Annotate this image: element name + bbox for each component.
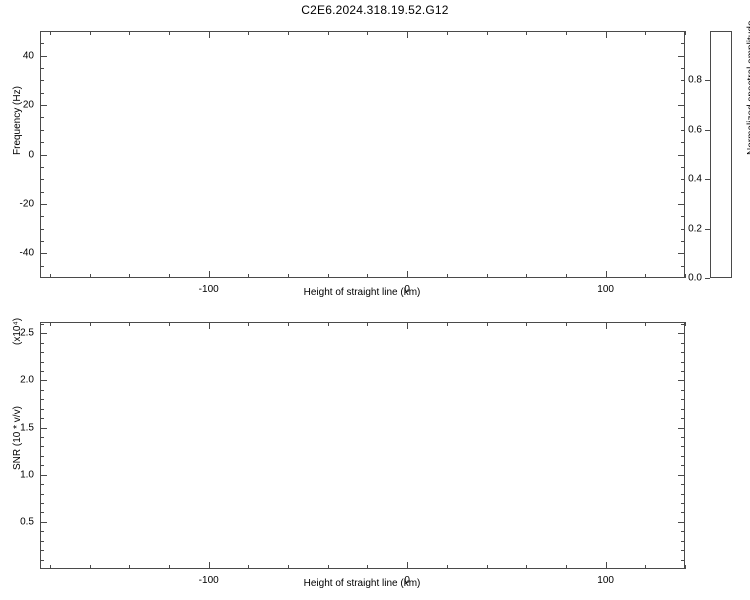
axis-tick bbox=[40, 550, 44, 551]
axis-tick bbox=[40, 465, 44, 466]
x-tick-label: 100 bbox=[597, 284, 614, 295]
axis-tick bbox=[40, 503, 44, 504]
axis-tick bbox=[129, 274, 130, 278]
axis-tick bbox=[169, 565, 170, 569]
axis-tick bbox=[40, 446, 44, 447]
axis-tick bbox=[40, 541, 44, 542]
axis-tick bbox=[40, 343, 44, 344]
colorbar-tick-label: 0.6 bbox=[672, 124, 702, 135]
axis-tick bbox=[40, 475, 47, 476]
axis-tick bbox=[681, 531, 685, 532]
colorbar-frame bbox=[710, 31, 732, 278]
axis-tick bbox=[681, 390, 685, 391]
axis-tick bbox=[678, 333, 685, 334]
axis-tick bbox=[645, 565, 646, 569]
colorbar-tick-label: 0.2 bbox=[672, 223, 702, 234]
axis-tick bbox=[681, 216, 685, 217]
axis-tick bbox=[526, 274, 527, 278]
axis-tick bbox=[606, 271, 607, 278]
y-tick-label: -40 bbox=[4, 248, 34, 259]
axis-tick bbox=[681, 371, 685, 372]
axis-tick bbox=[678, 105, 685, 106]
axis-tick bbox=[681, 446, 685, 447]
axis-tick bbox=[40, 80, 44, 81]
axis-tick bbox=[248, 565, 249, 569]
axis-tick bbox=[40, 409, 44, 410]
colorbar-tick-label: 0.4 bbox=[672, 174, 702, 185]
axis-tick bbox=[645, 31, 646, 35]
axis-tick bbox=[40, 266, 44, 267]
axis-tick bbox=[447, 31, 448, 35]
axis-tick bbox=[681, 541, 685, 542]
y-tick-label: 1.0 bbox=[4, 469, 34, 480]
axis-tick bbox=[40, 324, 44, 325]
axis-tick bbox=[40, 390, 44, 391]
axis-tick bbox=[40, 93, 44, 94]
axis-tick bbox=[407, 322, 408, 329]
axis-tick bbox=[678, 428, 685, 429]
axis-tick bbox=[678, 253, 685, 254]
axis-tick bbox=[681, 352, 685, 353]
axis-tick bbox=[681, 494, 685, 495]
axis-tick bbox=[681, 503, 685, 504]
axis-tick bbox=[248, 274, 249, 278]
axis-tick bbox=[90, 565, 91, 569]
axis-tick bbox=[328, 274, 329, 278]
axis-tick bbox=[129, 322, 130, 326]
x-tick-label: 100 bbox=[597, 575, 614, 586]
axis-tick bbox=[40, 241, 44, 242]
axis-tick bbox=[40, 522, 47, 523]
axis-tick bbox=[678, 522, 685, 523]
axis-tick bbox=[288, 322, 289, 326]
axis-tick bbox=[40, 380, 47, 381]
axis-tick bbox=[90, 274, 91, 278]
axis-tick bbox=[526, 565, 527, 569]
axis-tick bbox=[681, 484, 685, 485]
x-tick-label: -100 bbox=[199, 575, 219, 586]
axis-tick bbox=[606, 31, 607, 38]
y-tick-label: -20 bbox=[4, 198, 34, 209]
axis-tick bbox=[678, 155, 685, 156]
axis-tick bbox=[678, 204, 685, 205]
axis-tick bbox=[526, 31, 527, 35]
axis-tick bbox=[367, 565, 368, 569]
axis-tick bbox=[487, 565, 488, 569]
axis-tick bbox=[681, 362, 685, 363]
snr-y-multiplier-label: (x10⁴) bbox=[12, 318, 23, 345]
axis-tick bbox=[407, 31, 408, 38]
axis-tick bbox=[40, 179, 44, 180]
axis-tick bbox=[40, 437, 44, 438]
axis-tick bbox=[678, 380, 685, 381]
page-title: C2E6.2024.318.19.52.G12 bbox=[0, 3, 750, 17]
axis-tick bbox=[447, 274, 448, 278]
axis-tick bbox=[169, 31, 170, 35]
spectrogram-y-axis-title: Frequency (Hz) bbox=[12, 86, 23, 155]
axis-tick bbox=[328, 565, 329, 569]
axis-tick bbox=[681, 456, 685, 457]
axis-tick bbox=[40, 352, 44, 353]
axis-tick bbox=[40, 418, 44, 419]
spectrogram-x-axis-title: Height of straight line (km) bbox=[304, 287, 421, 298]
axis-tick bbox=[526, 322, 527, 326]
axis-tick bbox=[681, 560, 685, 561]
axis-tick bbox=[645, 322, 646, 326]
axis-tick bbox=[681, 241, 685, 242]
axis-tick bbox=[209, 562, 210, 569]
axis-tick bbox=[40, 484, 44, 485]
colorbar-label: Normalized spectral amplitude bbox=[746, 20, 750, 155]
colorbar-tick-label: 0.8 bbox=[672, 75, 702, 86]
axis-tick bbox=[367, 322, 368, 326]
axis-tick bbox=[40, 130, 44, 131]
axis-tick bbox=[681, 68, 685, 69]
axis-tick bbox=[248, 322, 249, 326]
axis-tick bbox=[681, 399, 685, 400]
axis-tick bbox=[40, 155, 47, 156]
axis-tick bbox=[90, 31, 91, 35]
axis-tick bbox=[681, 93, 685, 94]
axis-tick bbox=[447, 565, 448, 569]
axis-tick bbox=[40, 204, 47, 205]
axis-tick bbox=[209, 271, 210, 278]
axis-tick bbox=[288, 31, 289, 35]
axis-tick bbox=[487, 274, 488, 278]
axis-tick bbox=[40, 105, 47, 106]
axis-tick bbox=[685, 31, 686, 35]
axis-tick bbox=[606, 322, 607, 329]
axis-tick bbox=[40, 531, 44, 532]
axis-tick bbox=[40, 371, 44, 372]
axis-tick bbox=[40, 399, 44, 400]
axis-tick bbox=[328, 31, 329, 35]
colorbar-tick bbox=[705, 278, 710, 279]
axis-tick bbox=[288, 274, 289, 278]
axis-tick bbox=[328, 322, 329, 326]
axis-tick bbox=[367, 31, 368, 35]
axis-tick bbox=[685, 565, 686, 569]
axis-tick bbox=[681, 266, 685, 267]
axis-tick bbox=[685, 322, 686, 326]
colorbar-tick-label: 0.0 bbox=[672, 273, 702, 284]
axis-tick bbox=[681, 324, 685, 325]
y-tick-label: 2.0 bbox=[4, 375, 34, 386]
axis-tick bbox=[169, 322, 170, 326]
axis-tick bbox=[248, 31, 249, 35]
axis-tick bbox=[566, 274, 567, 278]
axis-tick bbox=[40, 512, 44, 513]
axis-tick bbox=[407, 271, 408, 278]
axis-tick bbox=[487, 322, 488, 326]
axis-tick bbox=[40, 56, 47, 57]
axis-tick bbox=[209, 31, 210, 38]
snr-y-axis-title: SNR (10 * v/v) bbox=[12, 406, 23, 470]
axis-tick bbox=[90, 322, 91, 326]
axis-tick bbox=[681, 343, 685, 344]
figure-canvas: C2E6.2024.318.19.52.G12 -100010040200-20… bbox=[0, 0, 750, 600]
axis-tick bbox=[50, 565, 51, 569]
axis-tick bbox=[40, 192, 44, 193]
axis-tick bbox=[681, 418, 685, 419]
axis-tick bbox=[209, 322, 210, 329]
axis-tick bbox=[678, 56, 685, 57]
axis-tick bbox=[681, 142, 685, 143]
axis-tick bbox=[40, 68, 44, 69]
axis-tick bbox=[678, 475, 685, 476]
axis-tick bbox=[40, 117, 44, 118]
axis-tick bbox=[367, 274, 368, 278]
colorbar-tick bbox=[705, 80, 710, 81]
snr-x-axis-title: Height of straight line (km) bbox=[304, 578, 421, 589]
axis-tick bbox=[40, 456, 44, 457]
axis-tick bbox=[40, 362, 44, 363]
axis-tick bbox=[50, 322, 51, 326]
axis-tick bbox=[487, 31, 488, 35]
x-tick-label: -100 bbox=[199, 284, 219, 295]
axis-tick bbox=[40, 333, 47, 334]
colorbar-tick bbox=[705, 179, 710, 180]
axis-tick bbox=[40, 560, 44, 561]
axis-tick bbox=[606, 562, 607, 569]
axis-tick bbox=[40, 494, 44, 495]
axis-tick bbox=[50, 274, 51, 278]
axis-tick bbox=[681, 550, 685, 551]
spectrogram-axes-frame bbox=[40, 31, 685, 278]
colorbar-tick bbox=[705, 130, 710, 131]
axis-tick bbox=[40, 43, 44, 44]
axis-tick bbox=[129, 31, 130, 35]
axis-tick bbox=[40, 428, 47, 429]
axis-tick bbox=[40, 216, 44, 217]
axis-tick bbox=[681, 437, 685, 438]
axis-tick bbox=[40, 142, 44, 143]
axis-tick bbox=[169, 274, 170, 278]
colorbar-tick bbox=[705, 229, 710, 230]
axis-tick bbox=[645, 274, 646, 278]
y-tick-label: 40 bbox=[4, 50, 34, 61]
axis-tick bbox=[129, 565, 130, 569]
axis-tick bbox=[40, 253, 47, 254]
axis-tick bbox=[566, 565, 567, 569]
axis-tick bbox=[40, 229, 44, 230]
axis-tick bbox=[566, 322, 567, 326]
snr-axes-frame bbox=[40, 322, 685, 569]
axis-tick bbox=[447, 322, 448, 326]
axis-tick bbox=[681, 43, 685, 44]
axis-tick bbox=[681, 167, 685, 168]
axis-tick bbox=[681, 512, 685, 513]
axis-tick bbox=[407, 562, 408, 569]
axis-tick bbox=[566, 31, 567, 35]
axis-tick bbox=[288, 565, 289, 569]
y-tick-label: 0.5 bbox=[4, 516, 34, 527]
axis-tick bbox=[681, 465, 685, 466]
axis-tick bbox=[681, 409, 685, 410]
axis-tick bbox=[50, 31, 51, 35]
axis-tick bbox=[681, 192, 685, 193]
axis-tick bbox=[681, 117, 685, 118]
axis-tick bbox=[40, 167, 44, 168]
